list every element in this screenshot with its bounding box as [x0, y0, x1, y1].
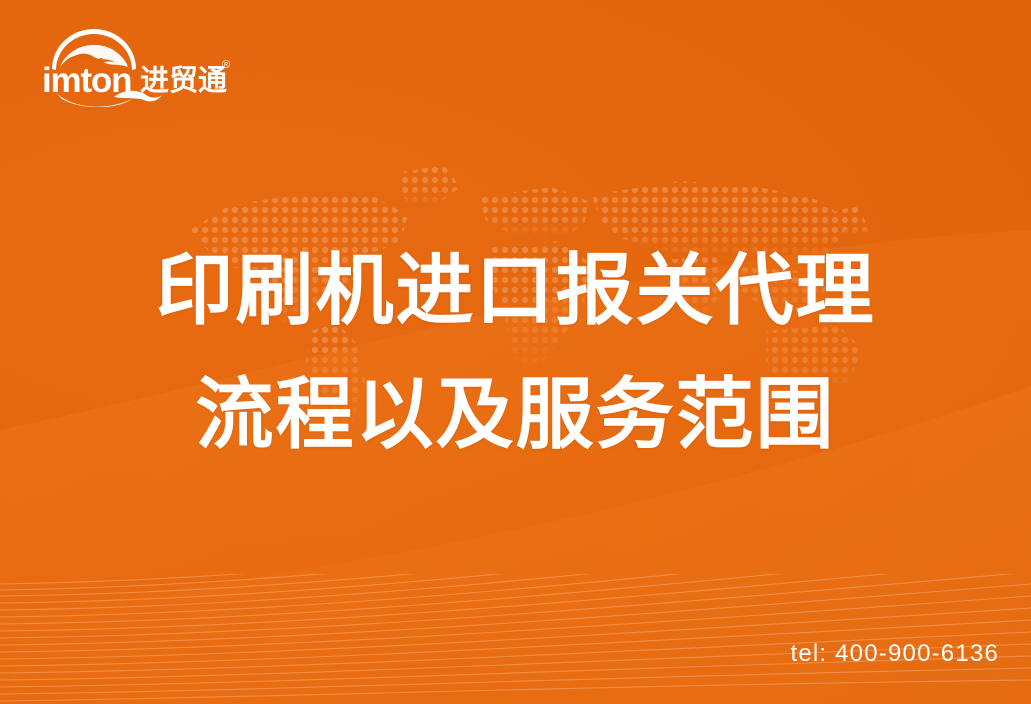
headline-line-2: 流程以及服务范围 [0, 352, 1031, 476]
company-logo[interactable]: imton 进贸通 ® [40, 27, 240, 107]
contact-telephone: tel: 400-900-6136 [790, 640, 999, 668]
logo-chinese-name: 进贸通 [140, 64, 227, 97]
headline-line-1: 印刷机进口报关代理 [0, 228, 1031, 352]
promotional-banner: imton 进贸通 ® 印刷机进口报关代理 流程以及服务范围 tel: 400-… [0, 0, 1031, 704]
logo-wordmark: imton [42, 61, 131, 100]
trademark-symbol: ® [222, 59, 230, 71]
page-title: 印刷机进口报关代理 流程以及服务范围 [0, 228, 1031, 476]
